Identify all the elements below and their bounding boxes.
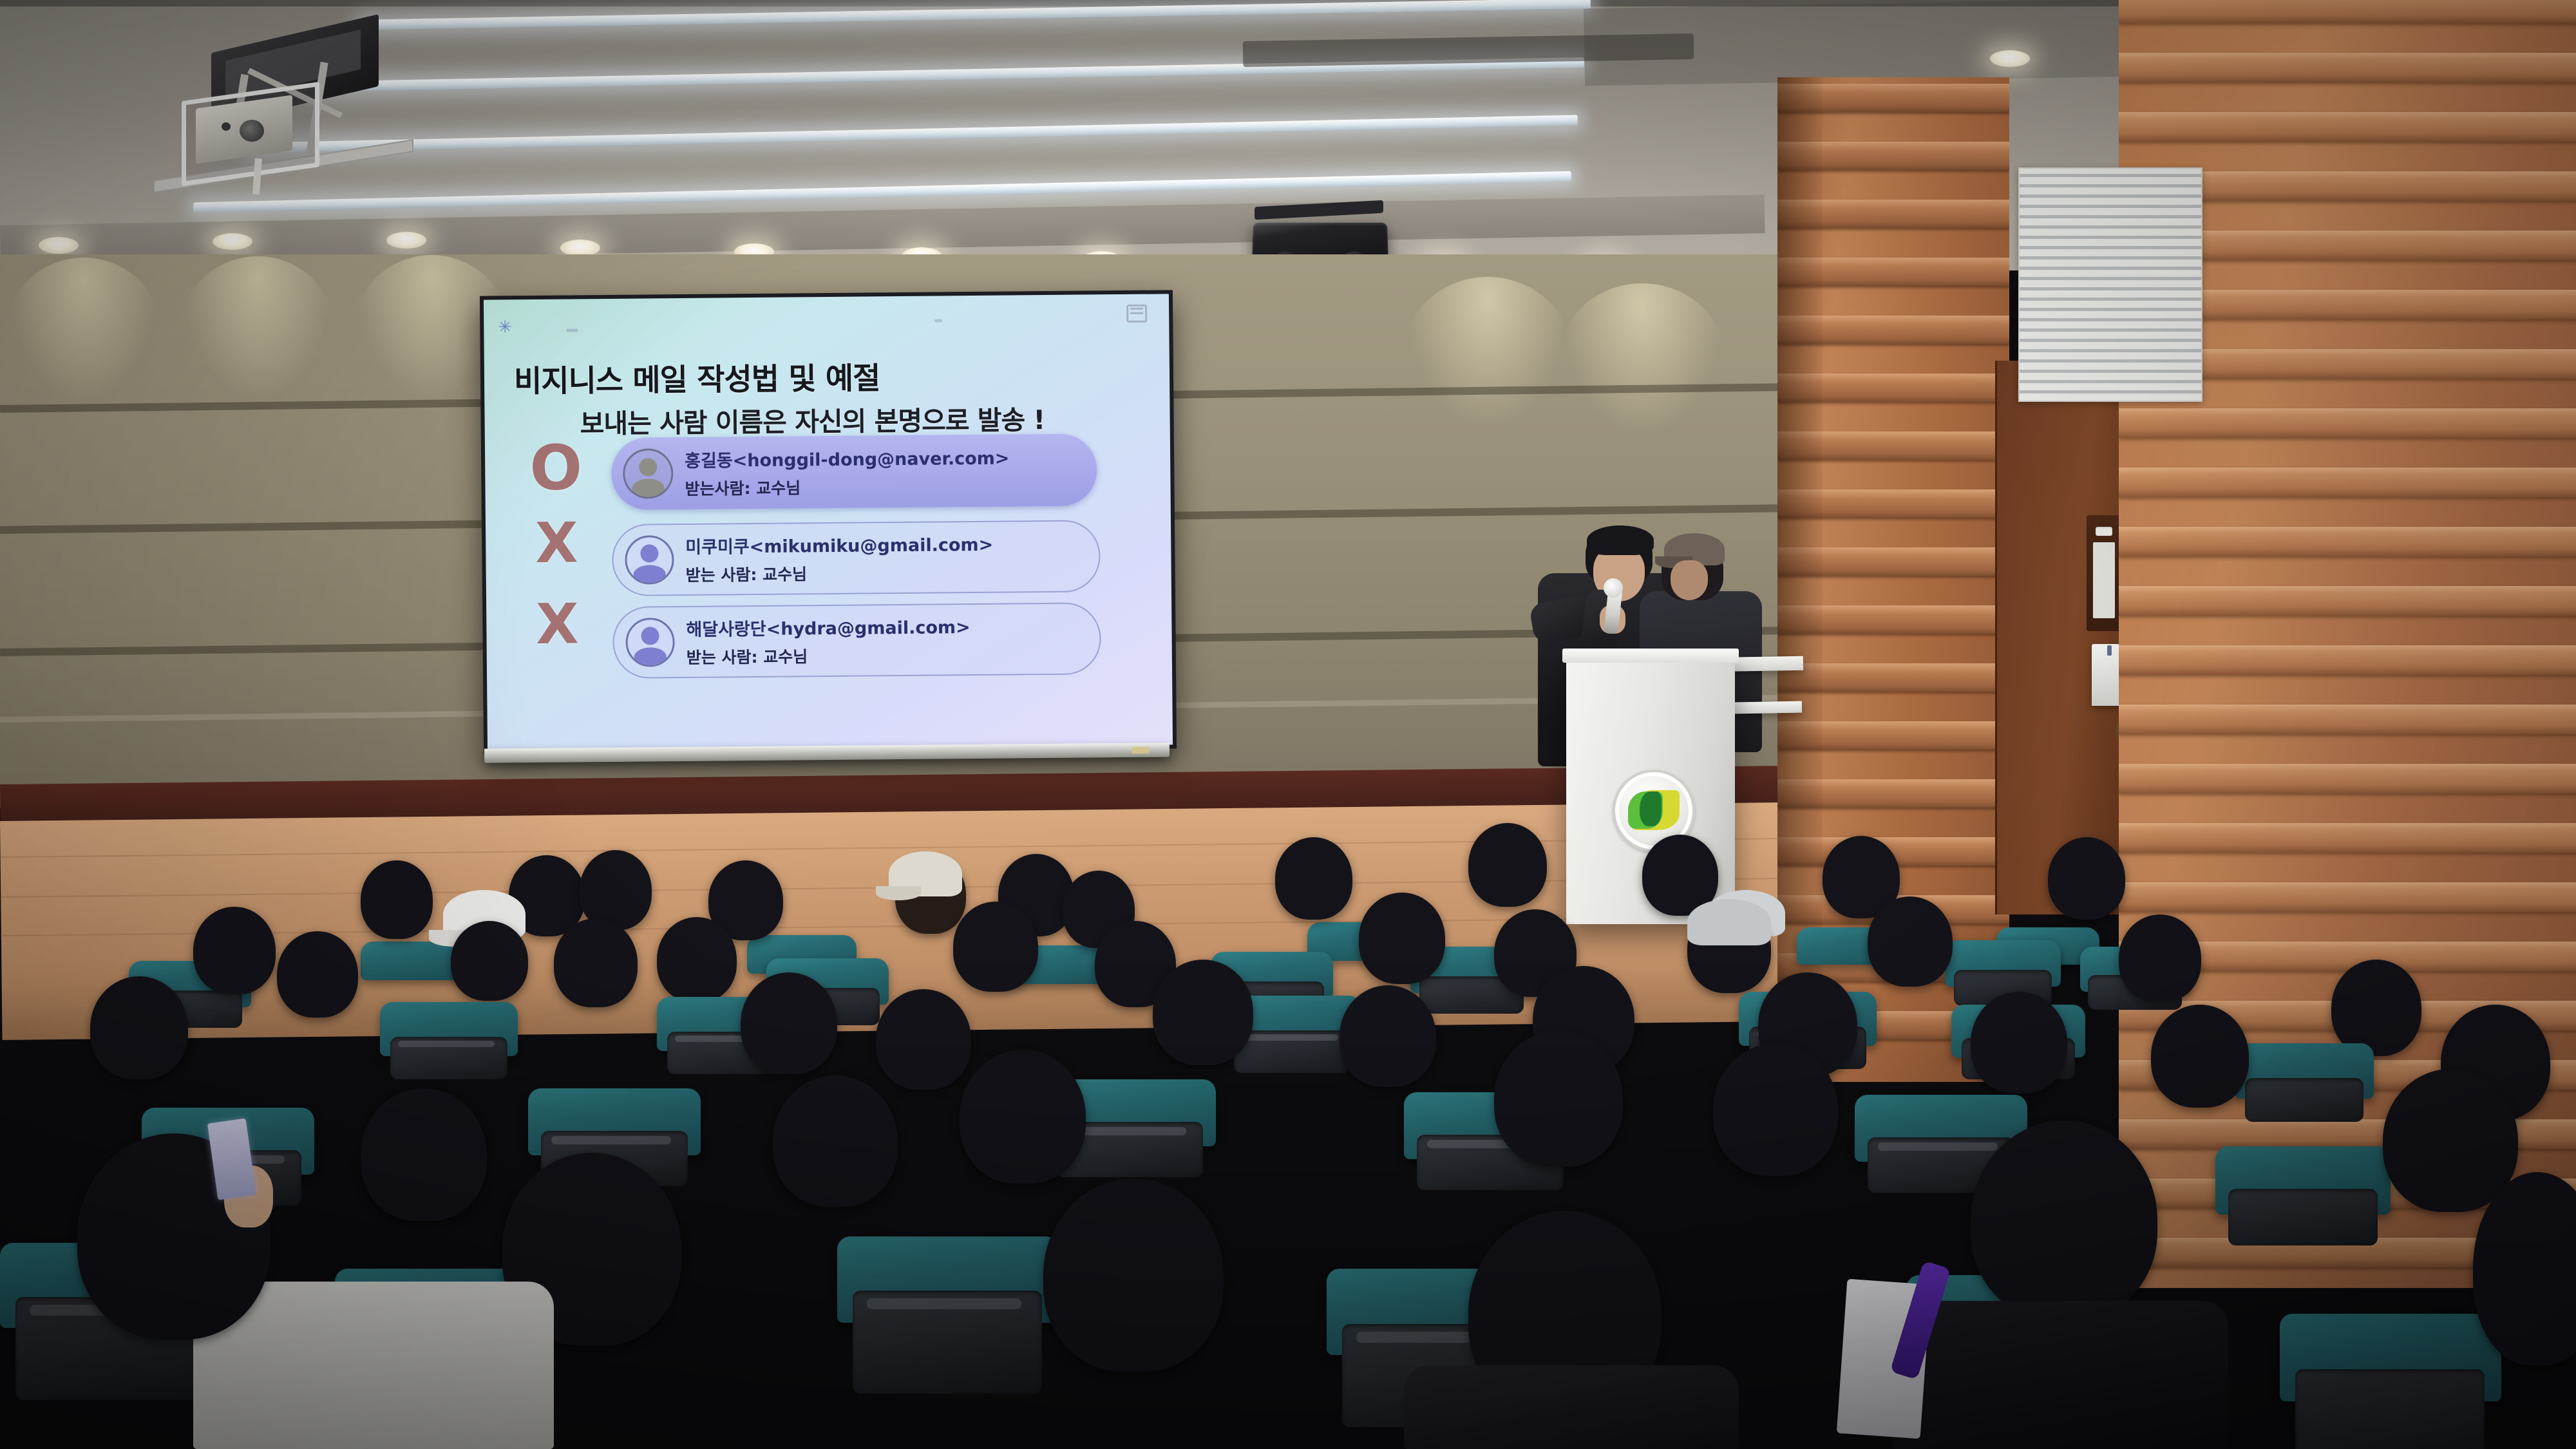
auditorium-photo: ✳ 비지니스 메일 작성법 및 예절 보내는 사람 이름은 자신의 본명으로 발… <box>0 0 2576 1449</box>
asterisk-icon: ✳ <box>498 319 512 336</box>
slide-thumbnail-icon <box>1126 305 1147 323</box>
mail-sender: 미쿠미쿠<mikumiku@gmail.com> <box>685 531 993 558</box>
downlight-icon <box>213 233 252 250</box>
avatar <box>623 448 674 499</box>
mail-sender: 홍길동<honggil-dong@naver.com> <box>685 444 1010 472</box>
mail-row-1: 홍길동<honggil-dong@naver.com> 받는사람: 교수님 <box>611 433 1097 510</box>
mail-recipient: 받는 사람: 교수님 <box>687 643 971 668</box>
downlight-icon <box>386 232 426 249</box>
mail-sender: 해달사랑단<hydra@gmail.com> <box>686 613 971 641</box>
baseball-cap-icon <box>1687 899 1771 945</box>
door-icon[interactable] <box>1995 361 2132 914</box>
mark-row-1: O <box>521 437 591 499</box>
mail-row-3: 해달사랑단<hydra@gmail.com> 받는 사람: 교수님 <box>612 602 1101 679</box>
ceiling-projector-icon <box>187 0 522 225</box>
mail-recipient: 받는사람: 교수님 <box>685 474 1010 500</box>
projection-screen: ✳ 비지니스 메일 작성법 및 예절 보내는 사람 이름은 자신의 본명으로 발… <box>480 290 1177 754</box>
downlight-icon <box>1990 50 2030 67</box>
hvac-vent-icon <box>2018 167 2202 402</box>
mark-row-3: X <box>522 596 592 652</box>
downlight-icon <box>39 237 79 254</box>
mail-row-2: 미쿠미쿠<mikumiku@gmail.com> 받는 사람: 교수님 <box>612 520 1101 596</box>
panel-display <box>2093 542 2115 618</box>
slide-title: 비지니스 메일 작성법 및 예절 <box>514 353 880 401</box>
mail-recipient: 받는 사람: 교수님 <box>686 560 994 586</box>
avatar <box>625 535 674 585</box>
mark-row-2: X <box>522 515 592 571</box>
avatar <box>625 618 675 667</box>
panel-button[interactable] <box>2096 527 2112 536</box>
